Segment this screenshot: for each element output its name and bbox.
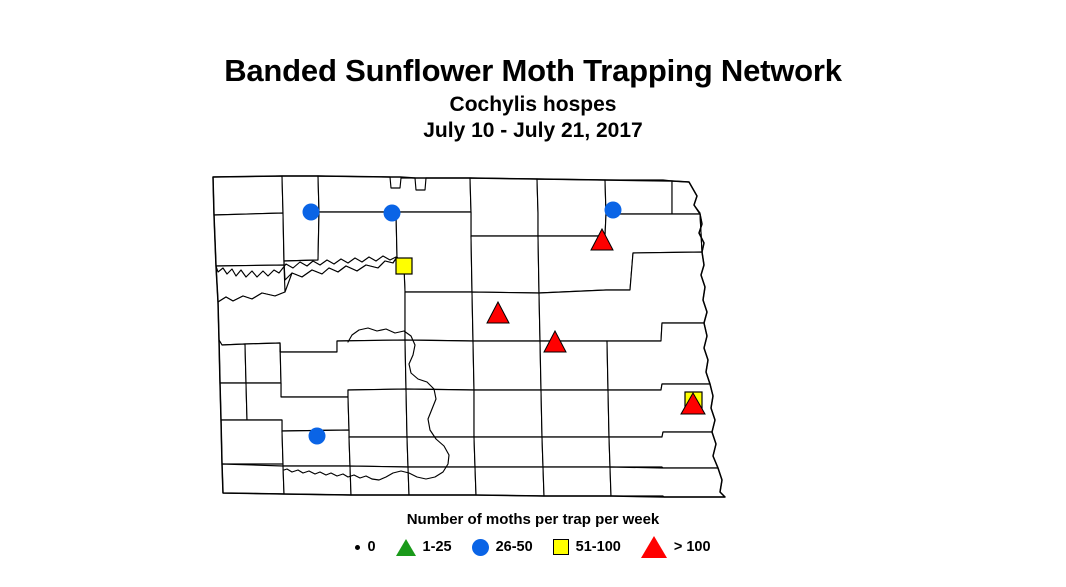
county-williams [214, 213, 284, 266]
legend-item-zero: 0 [355, 539, 375, 555]
county-sioux-w [349, 437, 408, 467]
green-triangle-icon [396, 539, 416, 556]
county-sheridan [405, 292, 473, 341]
marker-blue-circle [384, 205, 401, 222]
county-dickey-s [543, 467, 611, 496]
legend-label: 51-100 [576, 539, 621, 555]
county-bowman [221, 420, 283, 464]
legend-item-over-100: > 100 [641, 536, 711, 558]
county-rolette [470, 178, 538, 236]
map-page: Banded Sunflower Moth Trapping Network C… [0, 0, 1066, 587]
county-sioux-se [408, 467, 476, 495]
legend-label: 1-25 [423, 539, 452, 555]
legend: 0 1-25 26-50 51-100 > 100 [0, 536, 1066, 558]
legend-item-1-25: 1-25 [396, 539, 452, 556]
county-pierce [471, 236, 539, 293]
county-bowman-s [222, 464, 284, 494]
county-golden-valley [219, 340, 246, 383]
county-sargent [609, 432, 718, 468]
legend-item-26-50: 26-50 [472, 539, 533, 556]
county-boundaries [213, 176, 725, 497]
marker-blue-circle [309, 428, 326, 445]
marker-blue-circle [605, 202, 622, 219]
county-mchenry [396, 212, 472, 292]
legend-label: 0 [367, 539, 375, 555]
county-divide [213, 176, 283, 215]
county-sioux-e [407, 437, 475, 467]
county-burleigh [405, 340, 474, 390]
county-morton [348, 389, 407, 437]
county-billings [245, 343, 281, 383]
county-slope-n [220, 383, 247, 420]
blue-circle-icon [472, 539, 489, 556]
marker-yellow-square [396, 258, 412, 274]
legend-title: Number of moths per trap per week [0, 511, 1066, 528]
county-mcintosh-s [475, 467, 544, 496]
county-adams-s [283, 466, 351, 495]
county-sioux-sw [350, 466, 409, 495]
county-kidder [473, 341, 541, 390]
legend-item-51-100: 51-100 [553, 539, 621, 555]
legend-label: 26-50 [496, 539, 533, 555]
yellow-square-icon [553, 539, 569, 555]
county-dickey [542, 437, 610, 467]
county-sargent-s [610, 467, 725, 497]
county-mcintosh [474, 437, 543, 467]
legend-label: > 100 [674, 539, 711, 555]
county-emmons [406, 389, 474, 437]
county-lamoure [541, 390, 609, 437]
marker-blue-circle [303, 204, 320, 221]
county-towner [537, 179, 606, 236]
red-triangle-icon [641, 536, 667, 558]
black-dot-icon [355, 545, 360, 550]
north-dakota-map [0, 0, 1066, 587]
county-logan [474, 390, 542, 437]
